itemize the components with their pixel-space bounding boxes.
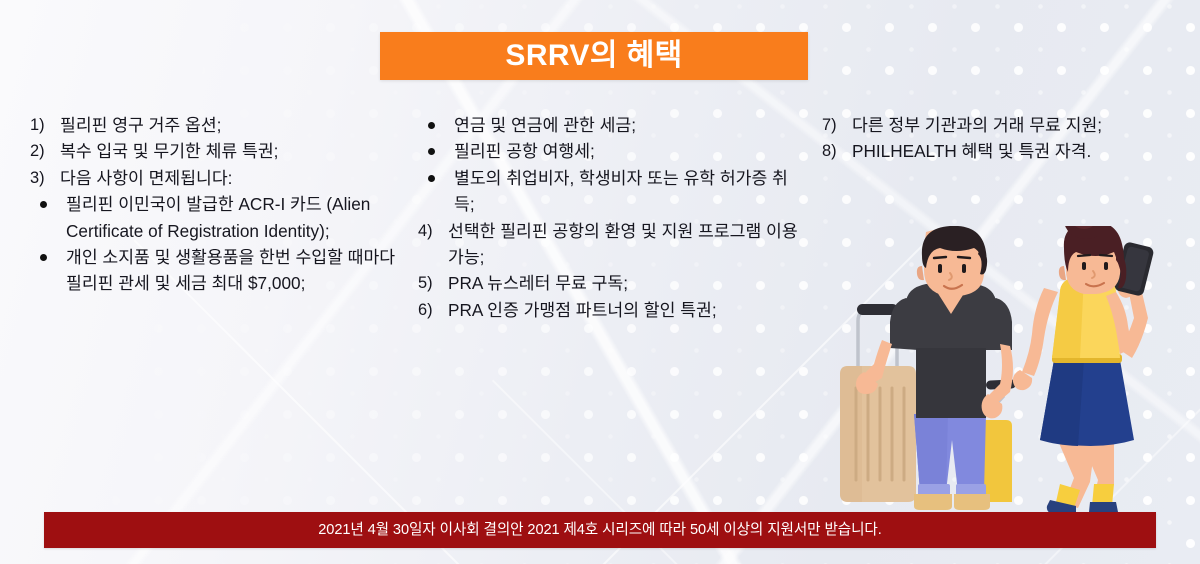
list-item-text: 연금 및 연금에 관한 세금; <box>454 115 636 135</box>
list-marker: 6) <box>418 297 444 323</box>
list-item: 필리핀 공항 여행세; <box>418 138 798 164</box>
benefits-column-left: 1) 필리핀 영구 거주 옵션; 2) 복수 입국 및 무기한 체류 특권; 3… <box>30 112 410 297</box>
list-item: 2) 복수 입국 및 무기한 체류 특권; <box>30 138 410 164</box>
list-marker: 3) <box>30 165 56 191</box>
numbered-list-middle: 4) 선택한 필리핀 공항의 환영 및 지원 프로그램 이용 가능; 5) PR… <box>418 218 798 324</box>
list-item-text: 선택한 필리핀 공항의 환영 및 지원 프로그램 이용 가능; <box>448 218 798 271</box>
list-item: 4) 선택한 필리핀 공항의 환영 및 지원 프로그램 이용 가능; <box>418 218 798 271</box>
benefits-column-right: 7) 다른 정부 기관과의 거래 무료 지원; 8) PHILHEALTH 혜택… <box>822 112 1194 165</box>
list-marker: 7) <box>822 112 848 138</box>
bullet-dot-icon <box>428 175 435 182</box>
numbered-list-left: 1) 필리핀 영구 거주 옵션; 2) 복수 입국 및 무기한 체류 특권; 3… <box>30 112 410 191</box>
list-item: 3) 다음 사항이 면제됩니다: <box>30 165 410 191</box>
list-marker: 1) <box>30 112 56 138</box>
list-item: 개인 소지품 및 생활용품을 한번 수입할 때마다 필리핀 관세 및 세금 최대… <box>30 244 410 297</box>
bullet-dot-icon <box>428 122 435 129</box>
bullet-dot-icon <box>40 254 47 261</box>
list-item: 연금 및 연금에 관한 세금; <box>418 112 798 138</box>
list-item: 7) 다른 정부 기관과의 거래 무료 지원; <box>822 112 1194 138</box>
list-item: 필리핀 이민국이 발급한 ACR-I 카드 (Alien Certificate… <box>30 191 410 244</box>
list-marker: 5) <box>418 270 444 296</box>
list-item: 5) PRA 뉴스레터 무료 구독; <box>418 270 798 296</box>
bullet-dot-icon <box>428 148 435 155</box>
list-item: 1) 필리핀 영구 거주 옵션; <box>30 112 410 138</box>
list-item-text: PRA 인증 가맹점 파트너의 할인 특권; <box>448 297 798 323</box>
traveling-couple-illustration <box>828 226 1200 516</box>
bullet-list-middle: 연금 및 연금에 관한 세금; 필리핀 공항 여행세; 별도의 취업비자, 학생… <box>418 112 798 218</box>
list-item-text: 필리핀 공항 여행세; <box>454 141 595 161</box>
slide-canvas: SRRV의 혜택 1) 필리핀 영구 거주 옵션; 2) 복수 입국 및 무기한… <box>0 0 1200 564</box>
numbered-list-right: 7) 다른 정부 기관과의 거래 무료 지원; 8) PHILHEALTH 혜택… <box>822 112 1194 165</box>
sub-bullet-list-left: 필리핀 이민국이 발급한 ACR-I 카드 (Alien Certificate… <box>30 191 410 297</box>
benefits-column-middle: 연금 및 연금에 관한 세금; 필리핀 공항 여행세; 별도의 취업비자, 학생… <box>418 112 798 323</box>
page-title: SRRV의 혜택 <box>505 41 682 71</box>
list-item-text: PHILHEALTH 혜택 및 특권 자격. <box>852 138 1194 164</box>
list-item-text: 필리핀 이민국이 발급한 ACR-I 카드 (Alien Certificate… <box>66 194 370 240</box>
list-item: 별도의 취업비자, 학생비자 또는 유학 허가증 취득; <box>418 165 798 218</box>
list-marker: 4) <box>418 218 444 244</box>
bullet-dot-icon <box>40 201 47 208</box>
list-marker: 2) <box>30 138 56 164</box>
list-marker: 8) <box>822 138 848 164</box>
footer-banner: 2021년 4월 30일자 이사회 결의안 2021 제4호 시리즈에 따라 5… <box>44 512 1156 548</box>
list-item-text: 개인 소지품 및 생활용품을 한번 수입할 때마다 필리핀 관세 및 세금 최대… <box>66 247 395 293</box>
title-banner: SRRV의 혜택 <box>380 32 808 80</box>
list-item: 8) PHILHEALTH 혜택 및 특권 자격. <box>822 138 1194 164</box>
list-item-text: 복수 입국 및 무기한 체류 특권; <box>60 138 410 164</box>
list-item-text: 다음 사항이 면제됩니다: <box>60 165 410 191</box>
list-item-text: PRA 뉴스레터 무료 구독; <box>448 270 798 296</box>
list-item-text: 다른 정부 기관과의 거래 무료 지원; <box>852 112 1194 138</box>
list-item: 6) PRA 인증 가맹점 파트너의 할인 특권; <box>418 297 798 323</box>
list-item-text: 별도의 취업비자, 학생비자 또는 유학 허가증 취득; <box>454 168 788 214</box>
footer-note: 2021년 4월 30일자 이사회 결의안 2021 제4호 시리즈에 따라 5… <box>318 523 881 538</box>
list-item-text: 필리핀 영구 거주 옵션; <box>60 112 410 138</box>
